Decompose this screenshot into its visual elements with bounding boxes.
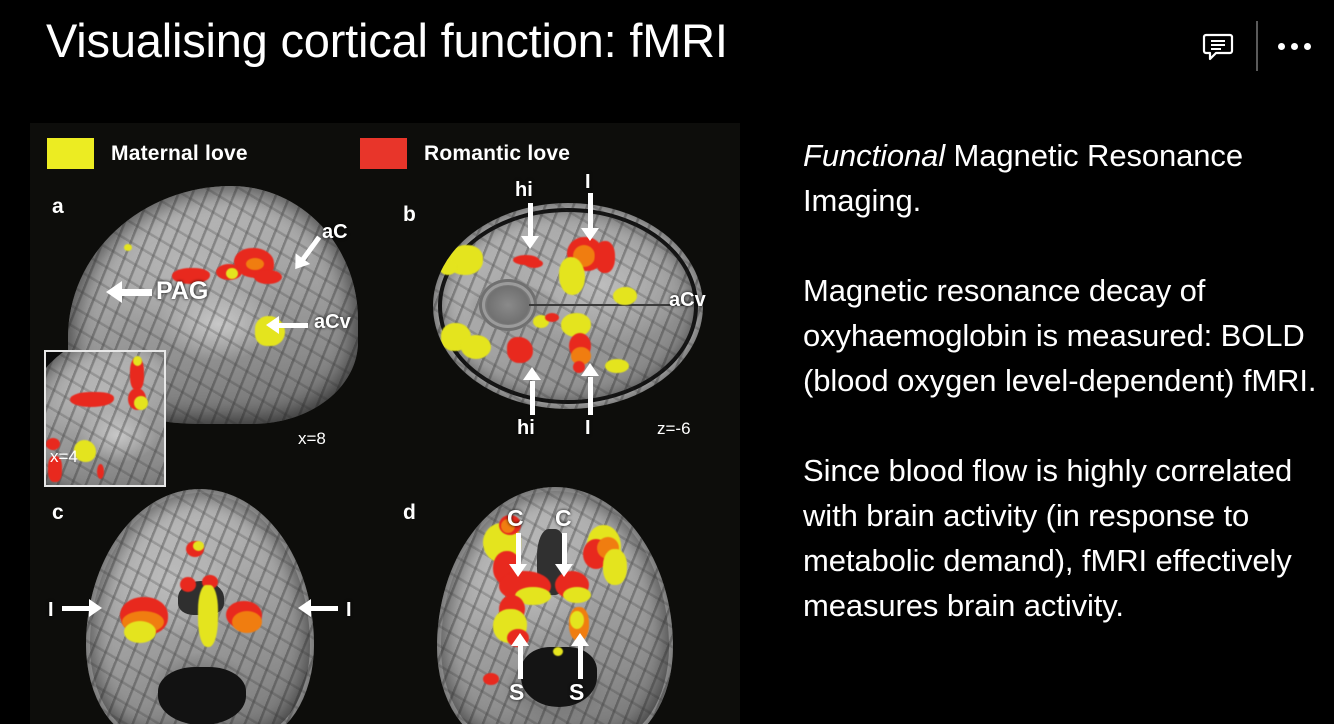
activation-blob (124, 244, 132, 251)
activation-blob (525, 259, 543, 268)
arrow-I-bottom (581, 363, 599, 415)
panel-b-letter: b (403, 203, 416, 227)
activation-blob (603, 549, 627, 585)
activation-blob (133, 356, 142, 366)
sulci-texture (433, 203, 703, 409)
activation-blob (246, 258, 264, 270)
annotation-C-right: C (555, 505, 572, 532)
legend-swatch-maternal (47, 138, 94, 169)
body-paragraph-2: Magnetic resonance decay of oxyhaemoglob… (803, 268, 1323, 403)
body-paragraph-1: Functional Magnetic Resonance Imaging. (803, 133, 1323, 223)
fmri-figure: Maternal love Romantic love a (30, 123, 740, 724)
activation-blob (198, 585, 218, 647)
arrow-PAG (106, 283, 152, 302)
arrow-C-right (555, 533, 573, 577)
panel-c-letter: c (52, 501, 64, 525)
activation-blob (193, 541, 204, 551)
body-paragraph-3: Since blood flow is highly correlated wi… (803, 448, 1323, 628)
activation-blob (134, 396, 148, 410)
slide-header: Visualising cortical function: fMRI (0, 0, 1334, 96)
panel-a-letter: a (52, 195, 64, 219)
coord-z: z=-6 (657, 419, 691, 439)
arrow-hi-top (521, 203, 539, 249)
panel-a: a aC aCv (30, 181, 385, 471)
activation-blob (545, 313, 559, 322)
skullbase-shadow (158, 667, 246, 724)
activation-blob (613, 287, 637, 305)
activation-blob (570, 611, 584, 629)
annotation-aCv-b: aCv (669, 289, 706, 312)
annotation-hi-top: hi (515, 179, 533, 202)
annotation-I-top: I (585, 171, 591, 194)
activation-blob (461, 335, 491, 359)
annotation-hi-bottom: hi (517, 417, 535, 440)
activation-blob (180, 577, 196, 592)
arrow-I-right (298, 599, 338, 618)
annotation-I-left: I (48, 599, 54, 622)
more-dot (1304, 43, 1311, 50)
slide-canvas: Visualising cortical function: fMRI (0, 0, 1334, 724)
coord-x4: x=4 (50, 447, 78, 467)
activation-blob (563, 587, 591, 603)
legend-item-maternal: Maternal love (47, 138, 248, 169)
header-actions (1196, 20, 1316, 72)
activation-blob (254, 270, 282, 284)
arrow-aCv (266, 316, 308, 335)
annotation-S-left: S (509, 679, 524, 706)
panel-c: c I (30, 481, 385, 724)
coord-x8: x=8 (298, 429, 326, 449)
activation-blob (124, 621, 156, 643)
activation-blob (553, 647, 563, 656)
annotation-aCv: aCv (314, 311, 351, 334)
annotation-I-right: I (346, 599, 352, 622)
arrow-C-left (509, 533, 527, 577)
legend-swatch-romantic (360, 138, 407, 169)
midline (529, 304, 689, 306)
activation-blob (439, 259, 457, 275)
legend-label-romantic: Romantic love (424, 142, 570, 166)
page-title: Visualising cortical function: fMRI (46, 8, 728, 74)
panel-b: b (385, 181, 740, 471)
more-options-icon[interactable] (1272, 24, 1316, 68)
legend-label-maternal: Maternal love (111, 142, 248, 166)
activation-blob (507, 337, 533, 363)
slide-body-text: Functional Magnetic Resonance Imaging. M… (803, 133, 1323, 628)
brain-axial-b (433, 203, 703, 409)
brain-coronal-c (86, 489, 314, 724)
panel-d-letter: d (403, 501, 416, 525)
annotation-aC: aC (322, 221, 348, 244)
arrow-I-left (62, 599, 102, 618)
annotation-PAG: PAG (156, 277, 208, 306)
activation-blob (605, 359, 629, 373)
comment-bubble-icon[interactable] (1196, 24, 1240, 68)
arrow-S-left (511, 633, 529, 679)
arrow-S-right (571, 633, 589, 679)
activation-blob (232, 611, 262, 633)
more-dot (1291, 43, 1298, 50)
panel-d: d (385, 481, 740, 724)
more-dot (1278, 43, 1285, 50)
activation-blob (226, 268, 238, 279)
annotation-C-left: C (507, 505, 524, 532)
legend-item-romantic: Romantic love (360, 138, 570, 169)
activation-blob (595, 241, 615, 273)
arrow-hi-bottom (523, 367, 541, 415)
body-paragraph-1-italic: Functional (803, 138, 945, 173)
annotation-I-bottom: I (585, 417, 591, 440)
arrow-I-top (581, 193, 599, 241)
figure-legend: Maternal love Romantic love (30, 123, 740, 181)
activation-blob (559, 257, 585, 295)
activation-blob (483, 673, 499, 685)
activation-blob (97, 464, 104, 479)
header-divider (1256, 21, 1258, 71)
annotation-S-right: S (569, 679, 584, 706)
